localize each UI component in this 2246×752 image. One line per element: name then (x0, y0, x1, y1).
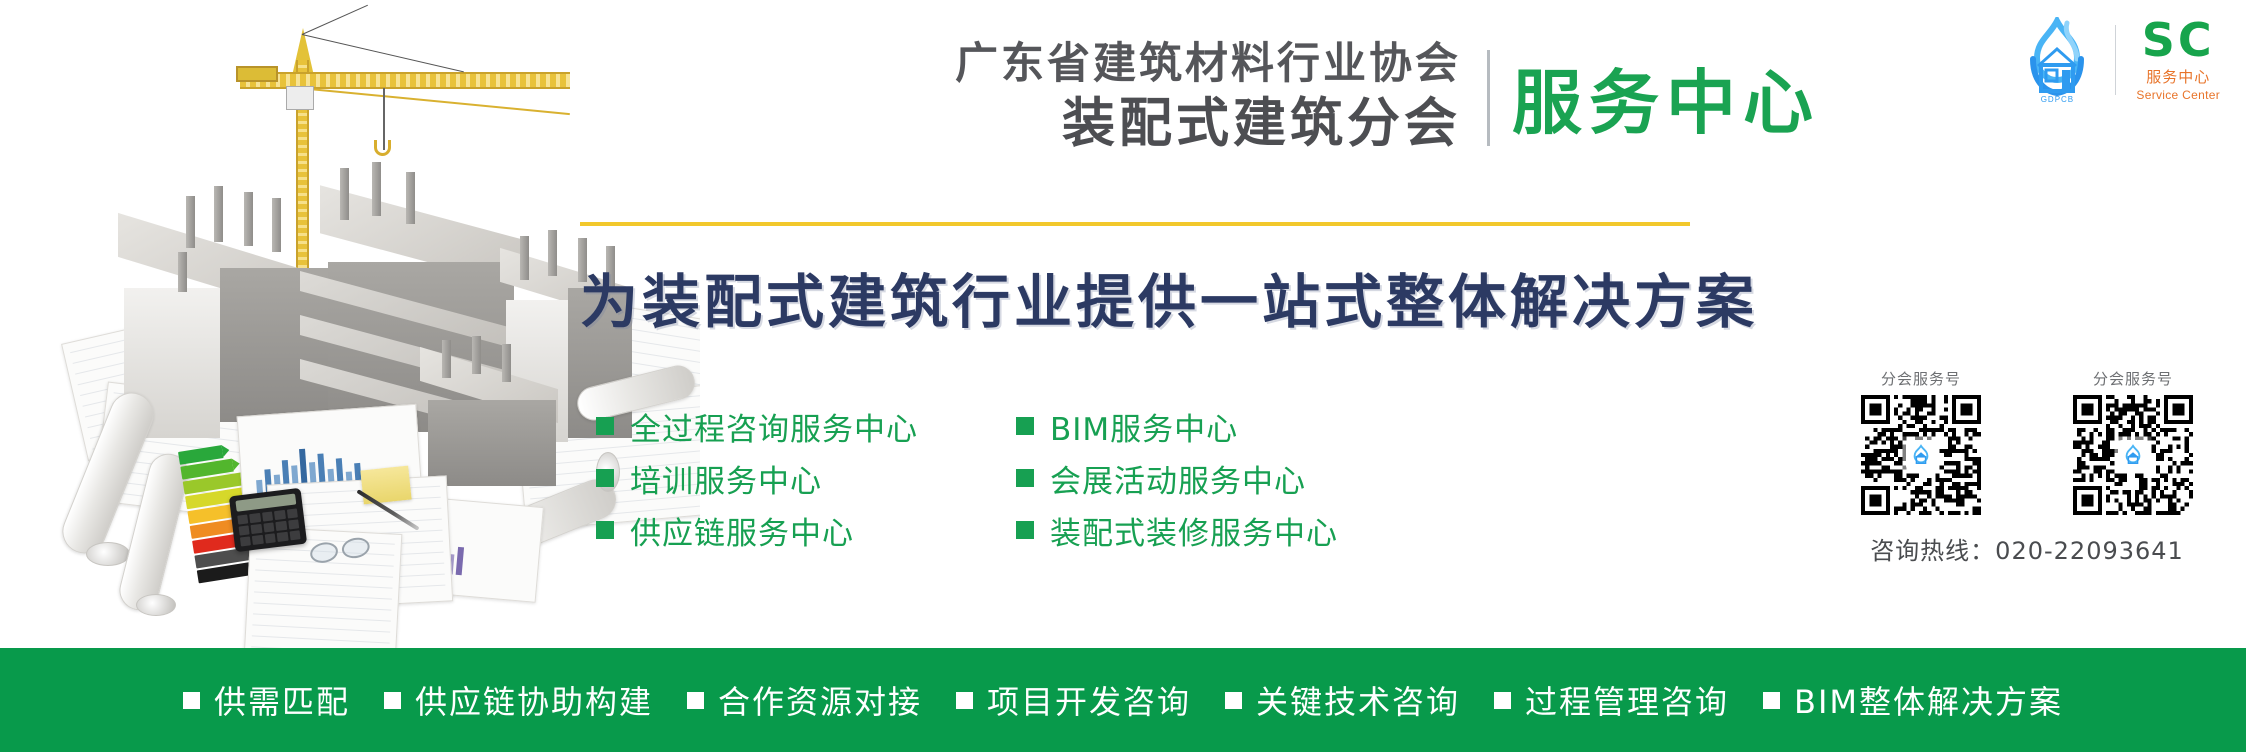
square-bullet-icon (384, 692, 401, 709)
square-bullet-icon (1016, 521, 1034, 539)
bottom-bar-item[interactable]: 项目开发咨询 (956, 677, 1191, 723)
yellow-divider-rule (580, 222, 1690, 226)
bottom-bar-label: 项目开发咨询 (987, 677, 1191, 723)
square-bullet-icon (596, 417, 614, 435)
square-bullet-icon (1763, 692, 1780, 709)
service-item[interactable]: 培训服务中心 (596, 452, 1016, 504)
service-item-label: 培训服务中心 (630, 456, 822, 501)
content-area: GDPCB SC 服务中心 Service Center 广东省建筑材料行业协会… (700, 0, 2246, 648)
square-bullet-icon (1016, 417, 1034, 435)
qr-code-row: 分会服务号 分会服务号 (1832, 368, 2222, 515)
association-heading: 广东省建筑材料行业协会 装配式建筑分会 服务中心 (580, 38, 1820, 157)
square-bullet-icon (687, 692, 704, 709)
association-line-2: 装配式建筑分会 (955, 91, 1461, 157)
qr-code-item[interactable]: 分会服务号 (2044, 368, 2222, 515)
service-item[interactable]: 全过程咨询服务中心 (596, 400, 1016, 452)
service-item[interactable]: 会展活动服务中心 (1016, 452, 1436, 504)
bottom-bar-item[interactable]: 过程管理咨询 (1494, 677, 1729, 723)
qr-code-image[interactable] (2073, 395, 2193, 515)
promotional-banner: GDPCB SC 服务中心 Service Center 广东省建筑材料行业协会… (0, 0, 2246, 752)
service-item-label: 会展活动服务中心 (1050, 456, 1306, 501)
qr-caption: 分会服务号 (2044, 368, 2222, 389)
square-bullet-icon (1494, 692, 1511, 709)
square-bullet-icon (183, 692, 200, 709)
square-bullet-icon (1225, 692, 1242, 709)
service-center-heading: 服务中心 (1512, 47, 1820, 148)
bottom-bar-item[interactable]: 供应链协助构建 (384, 677, 653, 723)
bottom-bar-label: 供应链协助构建 (415, 677, 653, 723)
bottom-bar-item[interactable]: 关键技术咨询 (1225, 677, 1460, 723)
logo-sc-text: SC (2142, 18, 2215, 63)
square-bullet-icon (596, 521, 614, 539)
logo-english-text: Service Center (2136, 88, 2220, 102)
bottom-bar-label: 关键技术咨询 (1256, 677, 1460, 723)
bottom-bar-item[interactable]: BIM整体解决方案 (1763, 677, 2063, 723)
square-bullet-icon (956, 692, 973, 709)
qr-code-item[interactable]: 分会服务号 (1832, 368, 2010, 515)
service-item-label: BIM服务中心 (1050, 404, 1238, 449)
qr-embedded-logo-icon (2118, 440, 2148, 470)
service-item-label: 供应链服务中心 (630, 508, 854, 553)
gdpcb-house-flame-icon: GDPCB (2019, 17, 2095, 103)
logo-divider (2115, 25, 2116, 95)
square-bullet-icon (1016, 469, 1034, 487)
service-center-list: 全过程咨询服务中心 BIM服务中心 培训服务中心 会展活动服务中心 供应链服务中… (596, 400, 1616, 556)
logo-chinese-text: 服务中心 (2146, 66, 2210, 87)
heading-divider (1487, 50, 1490, 146)
bottom-bar-label: 过程管理咨询 (1525, 677, 1729, 723)
bottom-services-bar: 供需匹配 供应链协助构建 合作资源对接 项目开发咨询 关键技术咨询 过程管理咨询… (0, 648, 2246, 752)
bottom-bar-label: BIM整体解决方案 (1794, 677, 2063, 723)
main-tagline: 为装配式建筑行业提供一站式整体解决方案 (580, 255, 1740, 339)
service-item-label: 全过程咨询服务中心 (630, 404, 918, 449)
association-line-1: 广东省建筑材料行业协会 (955, 38, 1461, 91)
hotline-text: 咨询热线：020-22093641 (1832, 531, 2222, 566)
service-item[interactable]: BIM服务中心 (1016, 400, 1436, 452)
calculator (229, 488, 307, 552)
bottom-bar-item[interactable]: 供需匹配 (183, 677, 350, 723)
qr-code-image[interactable] (1861, 395, 1981, 515)
qr-embedded-logo-icon (1906, 440, 1936, 470)
bottom-bar-label: 合作资源对接 (718, 677, 922, 723)
sc-service-center-logo: GDPCB SC 服务中心 Service Center (2019, 14, 2220, 106)
logo-wordmark: SC 服务中心 Service Center (2136, 18, 2220, 102)
square-bullet-icon (596, 469, 614, 487)
bottom-bar-item[interactable]: 合作资源对接 (687, 677, 922, 723)
service-item[interactable]: 装配式装修服务中心 (1016, 504, 1436, 556)
qr-contact-block: 分会服务号 分会服务号 (1832, 368, 2222, 566)
association-name: 广东省建筑材料行业协会 装配式建筑分会 (955, 38, 1461, 157)
qr-caption: 分会服务号 (1832, 368, 2010, 389)
service-item[interactable]: 供应链服务中心 (596, 504, 1016, 556)
bottom-bar-label: 供需匹配 (214, 677, 350, 723)
logo-mark-caption: GDPCB (2019, 95, 2095, 104)
service-item-label: 装配式装修服务中心 (1050, 508, 1338, 553)
